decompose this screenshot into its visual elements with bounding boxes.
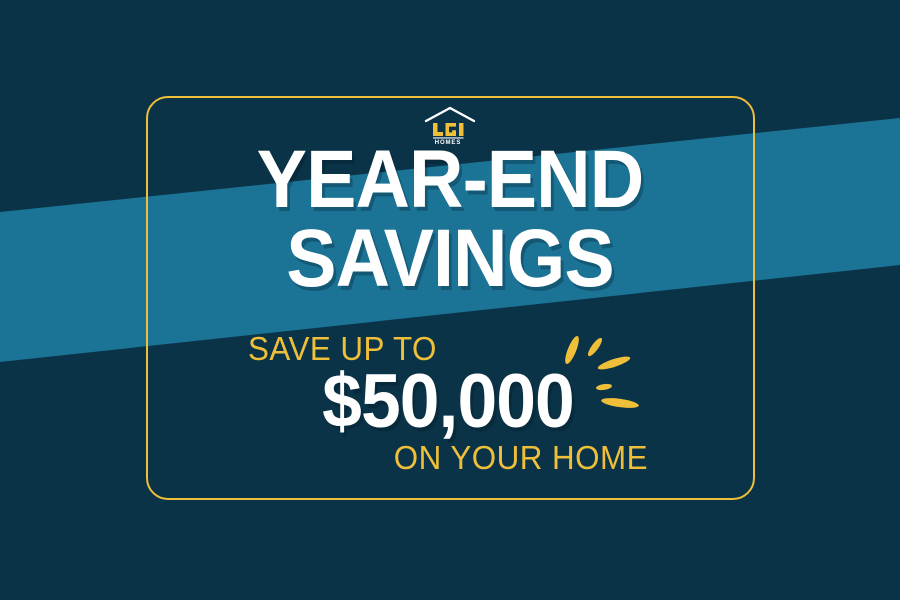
headline-line-1: YEAR-END bbox=[36, 142, 864, 217]
offer-suffix: ON YOUR HOME bbox=[268, 441, 648, 476]
headline: YEAR-END SAVINGS bbox=[0, 142, 900, 297]
offer-block: SAVE UP TO $50,000 ON YOUR HOME bbox=[248, 332, 648, 476]
headline-line-2: SAVINGS bbox=[36, 221, 864, 296]
promo-banner: HOMES YEAR-END SAVINGS SAVE UP TO $50,00… bbox=[0, 0, 900, 600]
offer-amount: $50,000 bbox=[260, 365, 636, 439]
